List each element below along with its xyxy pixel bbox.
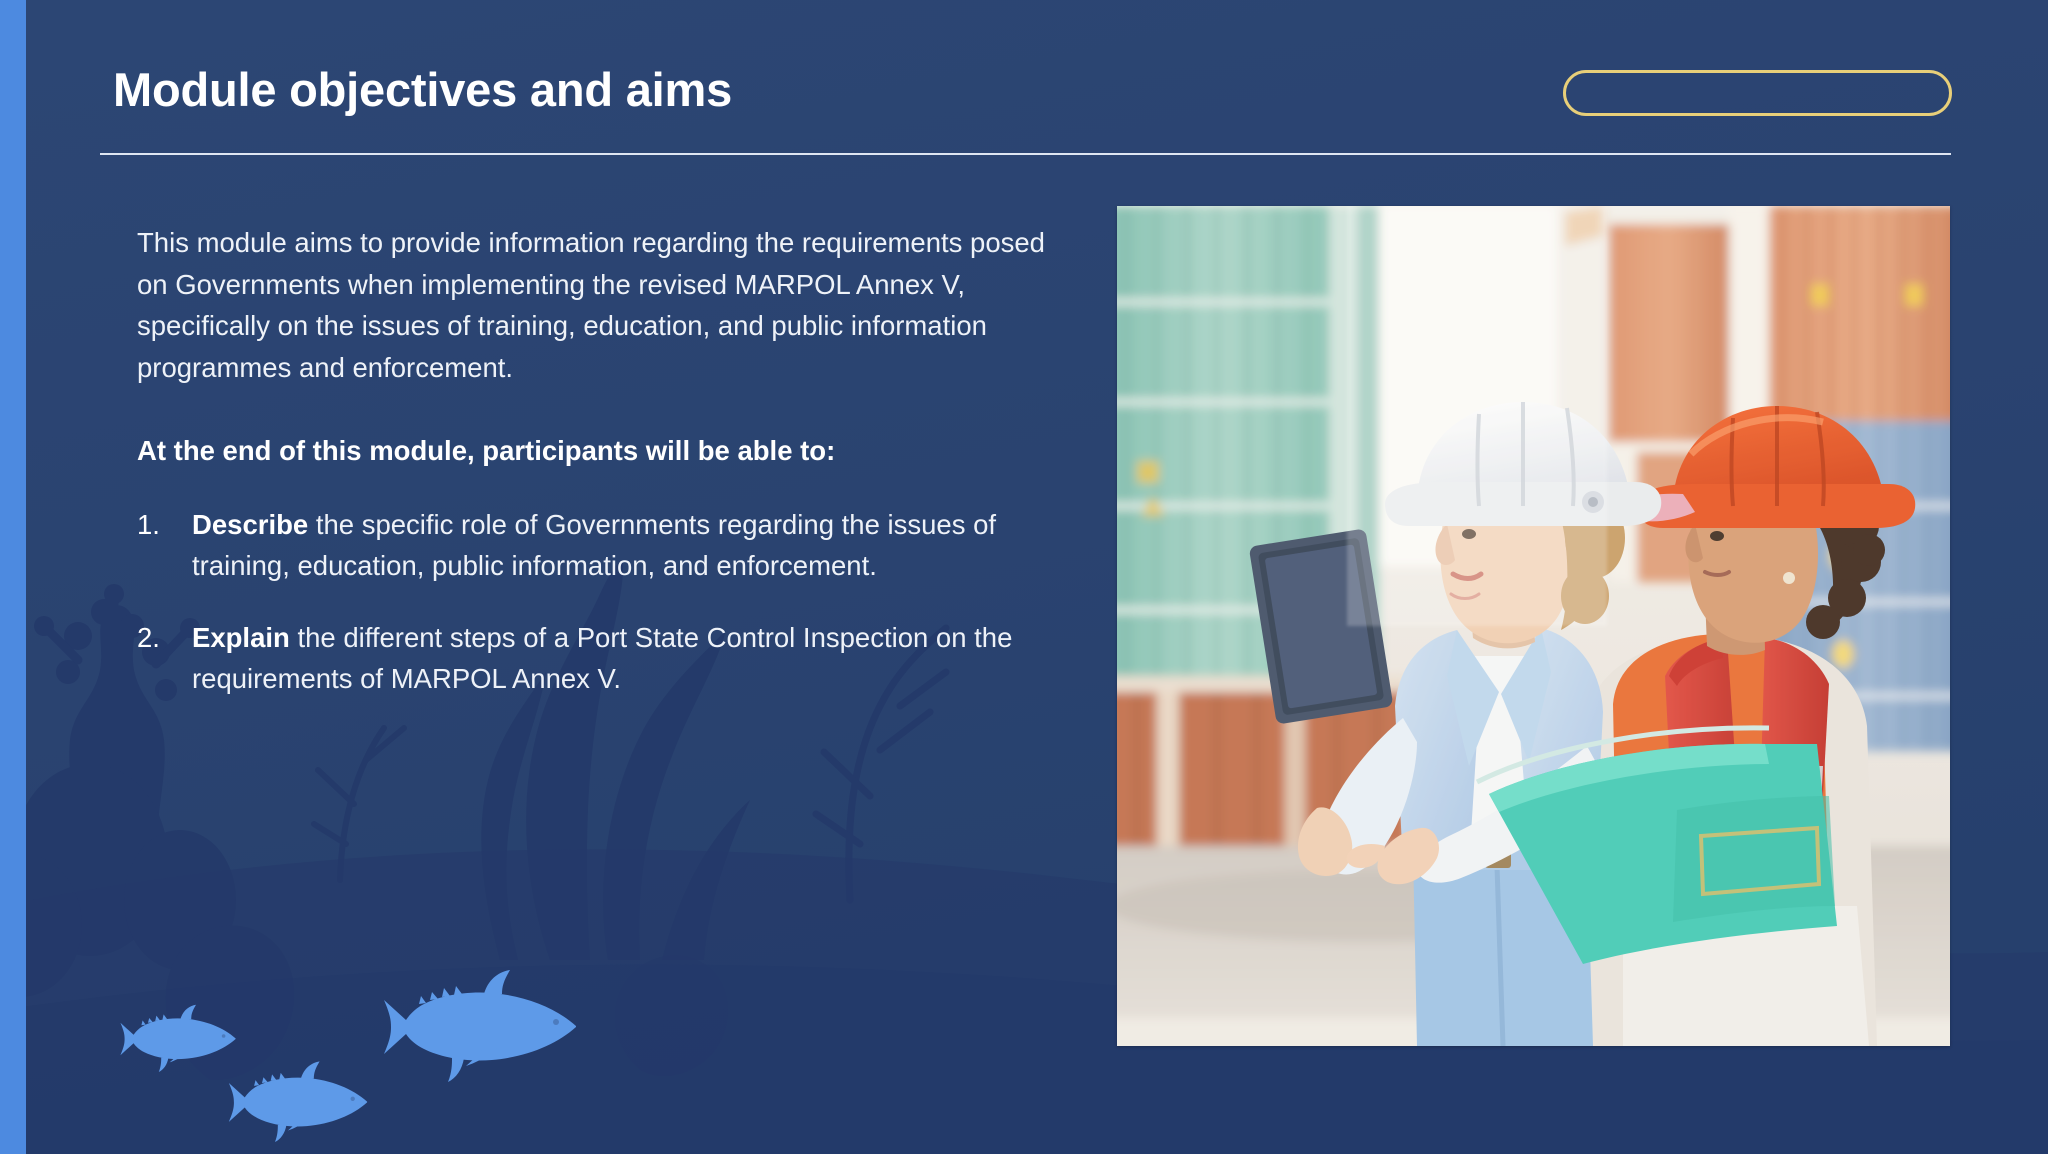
list-item: 2.Explain the different steps of a Port … bbox=[137, 617, 1077, 700]
list-item-text: the specific role of Governments regardi… bbox=[192, 509, 996, 582]
intro-paragraph: This module aims to provide information … bbox=[137, 222, 1077, 388]
fish-large-mid bbox=[384, 970, 576, 1082]
slide-canvas: Module objectives and aims This module a… bbox=[0, 0, 2048, 1154]
objectives-list: 1.Describe the specific role of Governme… bbox=[137, 504, 1077, 700]
list-item-number: 1. bbox=[137, 504, 177, 546]
slide-photo bbox=[1117, 206, 1950, 1046]
list-item-lead-verb: Explain bbox=[192, 622, 290, 653]
left-accent-bar bbox=[0, 0, 26, 1154]
content-text-column: This module aims to provide information … bbox=[137, 222, 1077, 730]
list-item-number: 2. bbox=[137, 617, 177, 659]
objectives-lead-in: At the end of this module, participants … bbox=[137, 430, 1077, 472]
fish-medium-low bbox=[229, 1061, 367, 1142]
slide-header: Module objectives and aims bbox=[0, 0, 2048, 170]
list-item: 1.Describe the specific role of Governme… bbox=[137, 504, 1077, 587]
fish-small-left bbox=[120, 1005, 235, 1072]
list-item-lead-verb: Describe bbox=[192, 509, 308, 540]
header-pill-badge[interactable] bbox=[1563, 70, 1952, 116]
list-item-text: the different steps of a Port State Cont… bbox=[192, 622, 1012, 695]
title-divider-rule bbox=[100, 153, 1951, 155]
page-title: Module objectives and aims bbox=[113, 62, 732, 117]
